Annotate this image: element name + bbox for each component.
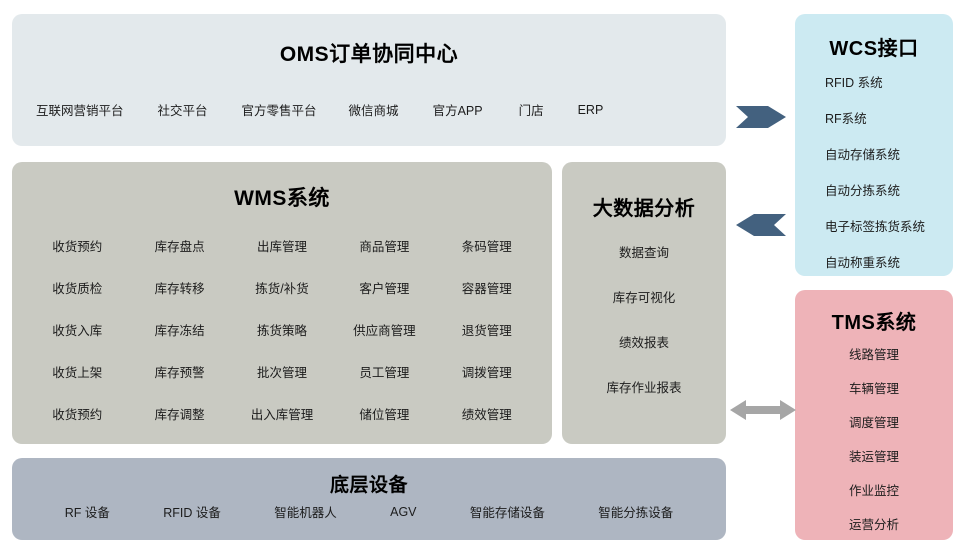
wms-module-item[interactable]: 退货管理 xyxy=(436,308,538,350)
oms-tag-item[interactable]: 互联网营销平台 xyxy=(36,100,124,119)
device-item[interactable]: 智能机器人 xyxy=(274,502,337,521)
wms-module-item[interactable]: 容器管理 xyxy=(436,266,538,308)
wms-module-item[interactable]: 库存冻结 xyxy=(128,308,230,350)
arrow-right-chevron-icon xyxy=(736,100,788,139)
bigdata-item[interactable]: 数据查询 xyxy=(619,242,669,261)
wms-module-item[interactable]: 收货预约 xyxy=(26,224,128,266)
wms-module-item[interactable]: 收货入库 xyxy=(26,308,128,350)
wms-panel[interactable]: WMS系统 收货预约 库存盘点 出库管理 商品管理 条码管理 收货质检 库存转移… xyxy=(12,162,552,444)
tms-panel-title: TMS系统 xyxy=(795,306,953,335)
oms-tag-item[interactable]: 微信商城 xyxy=(349,100,399,119)
bigdata-panel-title: 大数据分析 xyxy=(562,192,726,221)
oms-tag-list: 互联网营销平台 社交平台 官方零售平台 微信商城 官方APP 门店 ERP xyxy=(12,100,726,119)
arrow-double-horizontal-icon xyxy=(730,396,796,429)
wcs-item[interactable]: 自动存储系统 xyxy=(825,144,900,163)
tms-panel[interactable]: TMS系统 线路管理 车辆管理 调度管理 装运管理 作业监控 运营分析 xyxy=(795,290,953,540)
oms-panel[interactable]: OMS订单协同中心 互联网营销平台 社交平台 官方零售平台 微信商城 官方APP… xyxy=(12,14,726,146)
wms-module-item[interactable]: 条码管理 xyxy=(436,224,538,266)
devices-panel-title: 底层设备 xyxy=(12,470,726,497)
device-item[interactable]: 智能存储设备 xyxy=(470,502,545,521)
wms-module-item[interactable]: 客户管理 xyxy=(333,266,435,308)
wms-module-item[interactable]: 出库管理 xyxy=(231,224,333,266)
diagram-canvas: OMS订单协同中心 互联网营销平台 社交平台 官方零售平台 微信商城 官方APP… xyxy=(0,0,965,552)
oms-tag-item[interactable]: 官方APP xyxy=(433,100,483,119)
bigdata-item[interactable]: 库存作业报表 xyxy=(606,377,681,396)
wms-module-item[interactable]: 绩效管理 xyxy=(436,392,538,434)
tms-item-list: 线路管理 车辆管理 调度管理 装运管理 作业监控 运营分析 xyxy=(795,344,953,533)
bigdata-item[interactable]: 库存可视化 xyxy=(613,287,676,306)
wms-module-item[interactable]: 批次管理 xyxy=(231,350,333,392)
wms-module-item[interactable]: 库存预警 xyxy=(128,350,230,392)
wms-module-item[interactable]: 商品管理 xyxy=(333,224,435,266)
wcs-item[interactable]: RFID 系统 xyxy=(825,72,883,91)
tms-item[interactable]: 运营分析 xyxy=(849,514,899,533)
wms-module-item[interactable]: 收货质检 xyxy=(26,266,128,308)
devices-item-list: RF 设备 RFID 设备 智能机器人 AGV 智能存储设备 智能分拣设备 xyxy=(12,502,726,521)
wms-module-item[interactable]: 库存盘点 xyxy=(128,224,230,266)
wcs-item[interactable]: 自动分拣系统 xyxy=(825,180,900,199)
wms-module-item[interactable]: 调拨管理 xyxy=(436,350,538,392)
oms-tag-item[interactable]: 社交平台 xyxy=(158,100,208,119)
bigdata-item-list: 数据查询 库存可视化 绩效报表 库存作业报表 xyxy=(562,242,726,396)
tms-item[interactable]: 调度管理 xyxy=(849,412,899,431)
wms-module-item[interactable]: 储位管理 xyxy=(333,392,435,434)
tms-item[interactable]: 作业监控 xyxy=(849,480,899,499)
tms-item[interactable]: 装运管理 xyxy=(849,446,899,465)
oms-tag-item[interactable]: 官方零售平台 xyxy=(242,100,317,119)
wms-module-item[interactable]: 拣货/补货 xyxy=(231,266,333,308)
tms-item[interactable]: 车辆管理 xyxy=(849,378,899,397)
device-item[interactable]: RF 设备 xyxy=(65,502,110,521)
devices-panel[interactable]: 底层设备 RF 设备 RFID 设备 智能机器人 AGV 智能存储设备 智能分拣… xyxy=(12,458,726,540)
device-item[interactable]: AGV xyxy=(390,505,416,519)
wms-module-item[interactable]: 收货预约 xyxy=(26,392,128,434)
wms-module-item[interactable]: 出入库管理 xyxy=(231,392,333,434)
oms-panel-title: OMS订单协同中心 xyxy=(12,38,726,68)
wms-module-item[interactable]: 库存转移 xyxy=(128,266,230,308)
device-item[interactable]: 智能分拣设备 xyxy=(598,502,673,521)
wcs-panel-title: WCS接口 xyxy=(795,32,953,61)
wms-panel-title: WMS系统 xyxy=(12,182,552,212)
arrow-left-chevron-icon xyxy=(736,208,788,247)
device-item[interactable]: RFID 设备 xyxy=(163,502,221,521)
bigdata-item[interactable]: 绩效报表 xyxy=(619,332,669,351)
wms-module-item[interactable]: 库存调整 xyxy=(128,392,230,434)
wcs-item[interactable]: 电子标签拣货系统 xyxy=(825,216,925,235)
wcs-item[interactable]: RF系统 xyxy=(825,108,867,127)
oms-tag-item[interactable]: ERP xyxy=(578,103,604,117)
oms-tag-item[interactable]: 门店 xyxy=(519,100,544,119)
wcs-panel[interactable]: WCS接口 RFID 系统 RF系统 自动存储系统 自动分拣系统 电子标签拣货系… xyxy=(795,14,953,276)
wms-module-item[interactable]: 员工管理 xyxy=(333,350,435,392)
bigdata-panel[interactable]: 大数据分析 数据查询 库存可视化 绩效报表 库存作业报表 xyxy=(562,162,726,444)
tms-item[interactable]: 线路管理 xyxy=(849,344,899,363)
wms-module-item[interactable]: 供应商管理 xyxy=(333,308,435,350)
wms-module-item[interactable]: 收货上架 xyxy=(26,350,128,392)
wms-module-grid: 收货预约 库存盘点 出库管理 商品管理 条码管理 收货质检 库存转移 拣货/补货… xyxy=(12,224,552,434)
wcs-item-list: RFID 系统 RF系统 自动存储系统 自动分拣系统 电子标签拣货系统 自动称重… xyxy=(795,72,953,271)
wcs-item[interactable]: 自动称重系统 xyxy=(825,252,900,271)
wms-module-item[interactable]: 拣货策略 xyxy=(231,308,333,350)
